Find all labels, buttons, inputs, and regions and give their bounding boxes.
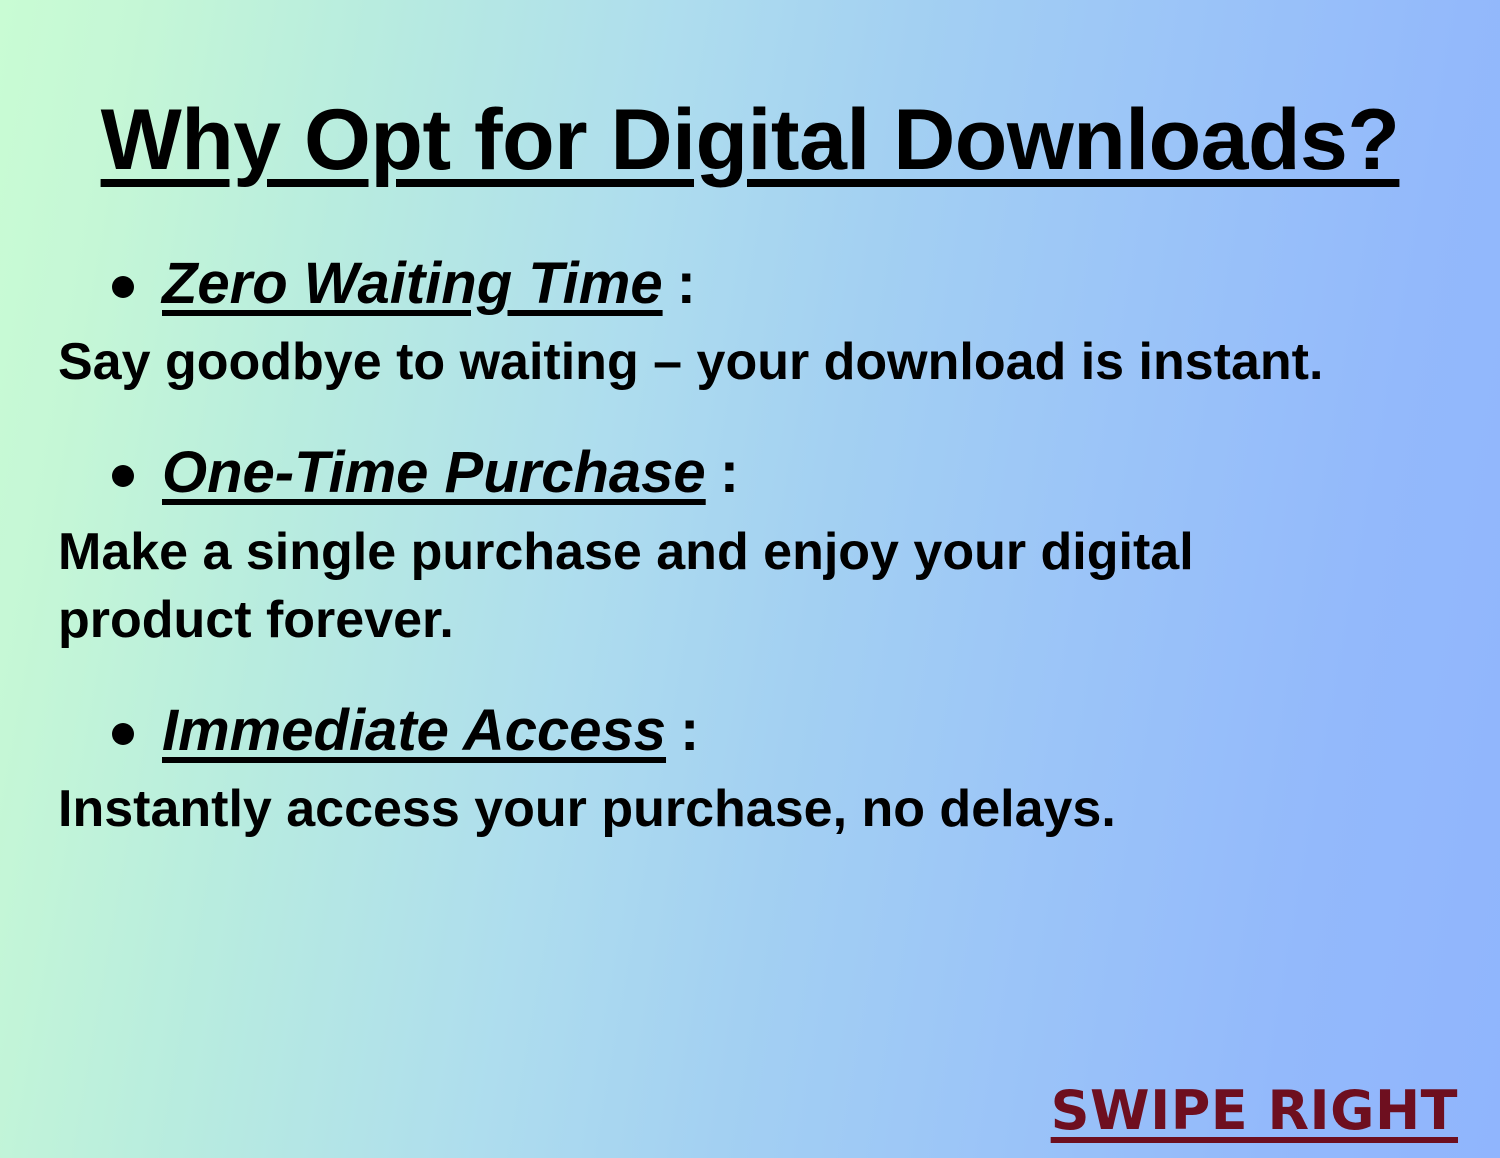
bullet-separator: : (680, 697, 699, 765)
bullet-list: Zero Waiting Time : Say goodbye to waiti… (0, 250, 1500, 844)
bullet-separator: : (677, 250, 696, 318)
bullet-dot-icon (112, 465, 134, 487)
bullet-body-text: Instantly access your purchase, no delay… (0, 775, 1500, 844)
bullet-heading-text: Immediate Access (162, 697, 666, 765)
page-title-row: Why Opt for Digital Downloads? (0, 36, 1500, 244)
bullet-separator: : (720, 439, 739, 507)
slide-canvas: Why Opt for Digital Downloads? Zero Wait… (0, 0, 1500, 1158)
swipe-right-container: SWIPE RIGHT (1051, 1081, 1458, 1140)
bullet-dot-icon (112, 723, 134, 745)
bullet-heading-row: Immediate Access : (0, 697, 1500, 765)
swipe-right-cta[interactable]: SWIPE RIGHT (1051, 1081, 1458, 1140)
bullet-heading-text: One-Time Purchase (162, 439, 706, 507)
bullet-block-one-time-purchase: One-Time Purchase : Make a single purcha… (0, 439, 1500, 655)
bullet-block-zero-waiting-time: Zero Waiting Time : Say goodbye to waiti… (0, 250, 1500, 397)
bullet-heading-text: Zero Waiting Time (162, 250, 663, 318)
bullet-body-text: Make a single purchase and enjoy your di… (0, 518, 1500, 655)
bullet-dot-icon (112, 276, 134, 298)
bullet-block-immediate-access: Immediate Access : Instantly access your… (0, 697, 1500, 844)
page-title: Why Opt for Digital Downloads? (101, 94, 1400, 187)
bullet-heading-row: One-Time Purchase : (0, 439, 1500, 507)
bullet-body-text: Say goodbye to waiting – your download i… (0, 328, 1500, 397)
bullet-heading-row: Zero Waiting Time : (0, 250, 1500, 318)
